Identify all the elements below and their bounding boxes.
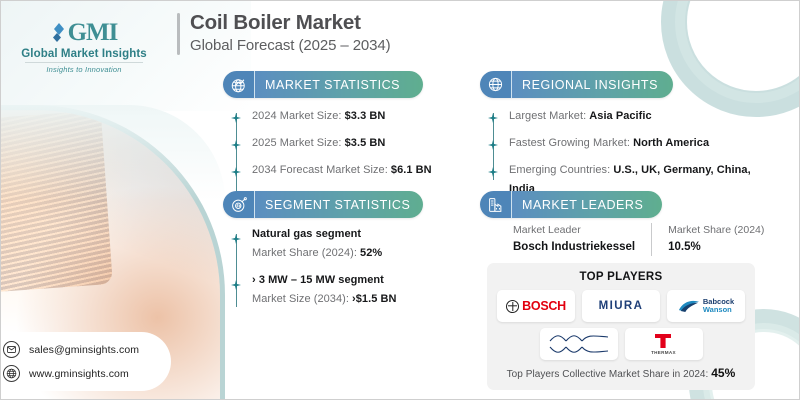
logo-alfa-laval[interactable] [540,328,618,360]
list-item: Natural gas segment Market Share (2024):… [231,227,446,262]
target-chart-icon [223,191,255,218]
alfa-laval-wave-icon [546,332,612,356]
top-players-row: THERMAX [497,328,745,360]
infographic-page: GMI Global Market Insights Insights to I… [0,0,800,400]
logo-thermax[interactable]: THERMAX [625,328,703,360]
bullet-diamond-icon [231,231,241,241]
list-item: 2034 Forecast Market Size: $6.1 BN [231,160,446,179]
item-label: Market Size (2034): [252,293,352,305]
item-label: Fastest Growing Market: [509,137,633,149]
logo-miura[interactable]: MIURA [582,290,660,322]
item-head: Natural gas segment [252,227,446,243]
item-label: Largest Market: [509,110,589,122]
bullet-diamond-icon [488,164,498,174]
collective-share-label: Top Players Collective Market Share in 2… [507,369,712,380]
item-value: ›$1.5 BN [352,293,396,305]
contact-website-row[interactable]: www.gminsights.com [3,365,161,382]
logo-bosch[interactable]: BOSCH [497,290,575,322]
contact-block: sales@gminsights.com www.gminsights.com [0,332,171,391]
item-label: Market Share (2024): [252,247,360,259]
contact-email: sales@gminsights.com [29,344,139,356]
section-label-segment-statistics: SEGMENT STATISTICS [255,191,423,218]
top-players-title: TOP PLAYERS [497,271,745,283]
market-leader-caption: Market Leader [513,223,635,239]
market-leader-summary: Market Leader Bosch Industriekessel Mark… [513,223,764,256]
contact-website: www.gminsights.com [29,368,129,380]
section-pill-market-statistics[interactable]: MARKET STATISTICS [223,71,423,98]
contact-email-row[interactable]: sales@gminsights.com [3,341,161,358]
item-label: 2024 Market Size: [252,110,345,122]
bosch-mark-icon [506,300,519,313]
thermax-t-icon [653,333,673,349]
page-subtitle: Global Forecast (2025 – 2034) [190,37,391,54]
list-item: Largest Market: Asia Pacific [488,106,756,125]
brand-name: Global Market Insights [9,48,159,60]
bullet-diamond-icon [231,137,241,147]
list-item: Fastest Growing Market: North America [488,133,756,152]
market-share-caption: Market Share (2024) [668,223,764,239]
bullet-diamond-icon [488,110,498,120]
logo-wanson-text: Wanson [703,306,734,314]
top-players-card: TOP PLAYERS BOSCH MIURA Babcock [487,263,755,390]
brand-tagline: Insights to Innovation [9,65,159,74]
globe-icon [3,365,20,382]
brand-logo-text: GMI [68,19,118,47]
item-value: Asia Pacific [589,110,651,122]
logo-thermax-text: THERMAX [651,350,676,355]
section-label-regional-insights: REGIONAL INSIGHTS [512,71,673,98]
header-accent-bar [177,13,180,55]
collective-share-value: 45% [711,366,735,380]
item-value: $3.5 BN [345,137,386,149]
item-value: $3.3 BN [345,110,386,122]
factory-icon [480,191,512,218]
item-head: › 3 MW – 15 MW segment [252,273,446,289]
globe-icon [480,71,512,98]
logo-babcock-wanson[interactable]: Babcock Wanson [667,290,745,322]
brand-logo: GMI Global Market Insights Insights to I… [9,19,159,74]
logo-bosch-text: BOSCH [522,299,566,313]
bullet-diamond-icon [488,137,498,147]
list-segment-statistics: Natural gas segment Market Share (2024):… [231,227,446,316]
page-header: Coil Boiler Market Global Forecast (2025… [177,11,391,55]
item-value: 52% [360,247,382,259]
item-value: $6.1 BN [391,164,432,176]
logo-miura-text: MIURA [599,300,644,312]
decorative-ring-top-right-inner [675,0,800,103]
gmi-diamond-icon [51,22,67,44]
collective-share-row: Top Players Collective Market Share in 2… [497,366,745,380]
section-label-market-leaders: MARKET LEADERS [512,191,662,218]
item-label: Emerging Countries: [509,164,613,176]
globe-chart-icon [223,71,255,98]
list-item: 2024 Market Size: $3.3 BN [231,106,446,125]
bullet-diamond-icon [231,110,241,120]
decorative-ring-top-right [661,0,800,117]
bullet-diamond-icon [231,164,241,174]
market-leader-name: Bosch Industriekessel [513,239,635,256]
item-label: 2034 Forecast Market Size: [252,164,391,176]
item-label: 2025 Market Size: [252,137,345,149]
email-icon [3,341,20,358]
bullet-diamond-icon [231,277,241,287]
top-players-row: BOSCH MIURA Babcock Wanson [497,290,745,322]
item-value: North America [633,137,709,149]
section-label-market-statistics: MARKET STATISTICS [255,71,423,98]
list-item: › 3 MW – 15 MW segment Market Size (2034… [231,273,446,308]
section-pill-segment-statistics[interactable]: SEGMENT STATISTICS [223,191,423,218]
market-share-column: Market Share (2024) 10.5% [651,223,764,256]
market-leader-column: Market Leader Bosch Industriekessel [513,223,651,256]
section-pill-market-leaders[interactable]: MARKET LEADERS [480,191,662,218]
page-title: Coil Boiler Market [190,11,391,35]
section-pill-regional-insights[interactable]: REGIONAL INSIGHTS [480,71,673,98]
babcock-swoosh-icon [678,299,700,313]
list-item: 2025 Market Size: $3.5 BN [231,133,446,152]
market-share-value: 10.5% [668,239,764,256]
